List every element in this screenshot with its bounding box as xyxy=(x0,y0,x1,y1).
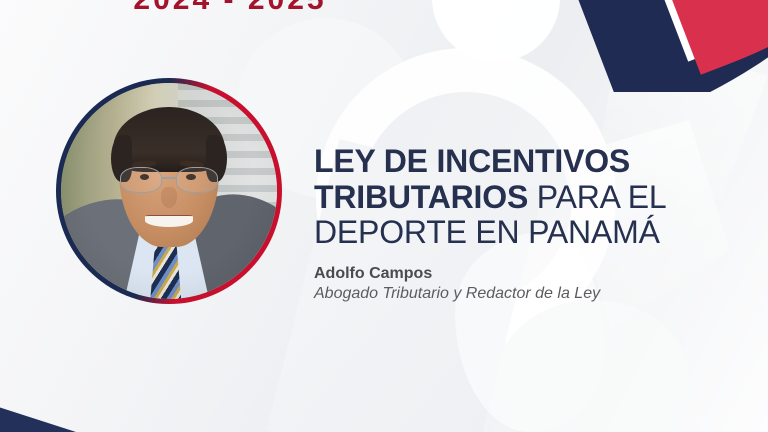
watermark-soft-circle-bottom xyxy=(498,300,688,432)
portrait-photo xyxy=(61,83,277,299)
accent-shape-white xyxy=(644,0,768,62)
presentation-slide: 2024 - 2025 xyxy=(0,0,768,432)
speaker-role: Abogado Tributario y Redactor de la Ley xyxy=(314,285,734,303)
corner-accent-bottom-left xyxy=(0,396,76,432)
portrait-vignette xyxy=(61,83,277,299)
speaker-portrait xyxy=(56,78,282,304)
speaker-name: Adolfo Campos xyxy=(314,265,734,283)
page-title: LEY DE INCENTIVOS TRIBUTARIOS PARA EL DE… xyxy=(314,144,734,251)
corner-accent-top-right xyxy=(568,0,768,92)
accent-shape-red xyxy=(647,0,768,75)
title-block: LEY DE INCENTIVOS TRIBUTARIOS PARA EL DE… xyxy=(314,144,734,303)
year-range-label: 2024 - 2025 xyxy=(0,0,460,17)
accent-shape-navy xyxy=(568,0,768,92)
